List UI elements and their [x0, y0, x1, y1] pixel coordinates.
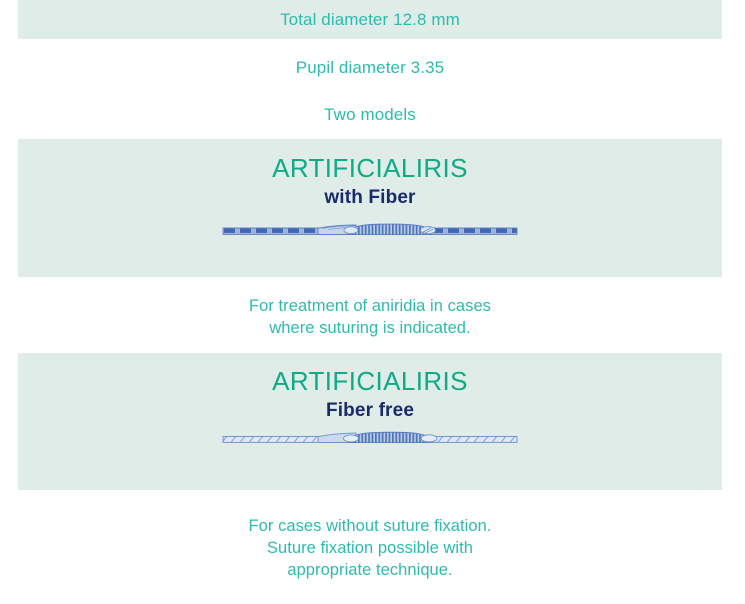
description-line: where suturing is indicated. — [18, 318, 722, 340]
total-diameter-text: Total diameter 12.8 mm — [18, 9, 722, 30]
product-title-with-fiber: ARTIFICIALIRIS — [18, 154, 722, 184]
description-line: appropriate technique. — [18, 560, 722, 582]
iris-cross-section-fiber-icon — [222, 222, 518, 242]
iris-cross-section-fiber-free-icon — [222, 430, 518, 450]
product-heading-with-fiber: ARTIFICIALIRIS with Fiber — [18, 154, 722, 210]
artificial-iris-with-fiber-illustration — [18, 222, 722, 242]
product-description-fiber-free: For cases without suture fixation. Sutur… — [18, 516, 722, 582]
pupil-diameter-text: Pupil diameter 3.35 — [18, 57, 722, 78]
product-heading-fiber-free: ARTIFICIALIRIS Fiber free — [18, 367, 722, 423]
artificial-iris-fiber-free-illustration — [18, 430, 722, 450]
product-title-fiber-free: ARTIFICIALIRIS — [18, 367, 722, 397]
description-line: For cases without suture fixation. — [18, 516, 722, 538]
description-line: Suture fixation possible with — [18, 538, 722, 560]
page-root: Total diameter 12.8 mm Pupil diameter 3.… — [0, 0, 745, 604]
product-subtitle-fiber-free: Fiber free — [18, 400, 722, 423]
product-description-with-fiber: For treatment of aniridia in cases where… — [18, 296, 722, 340]
description-line: For treatment of aniridia in cases — [18, 296, 722, 318]
models-count-text: Two models — [18, 104, 722, 125]
product-subtitle-with-fiber: with Fiber — [18, 187, 722, 210]
